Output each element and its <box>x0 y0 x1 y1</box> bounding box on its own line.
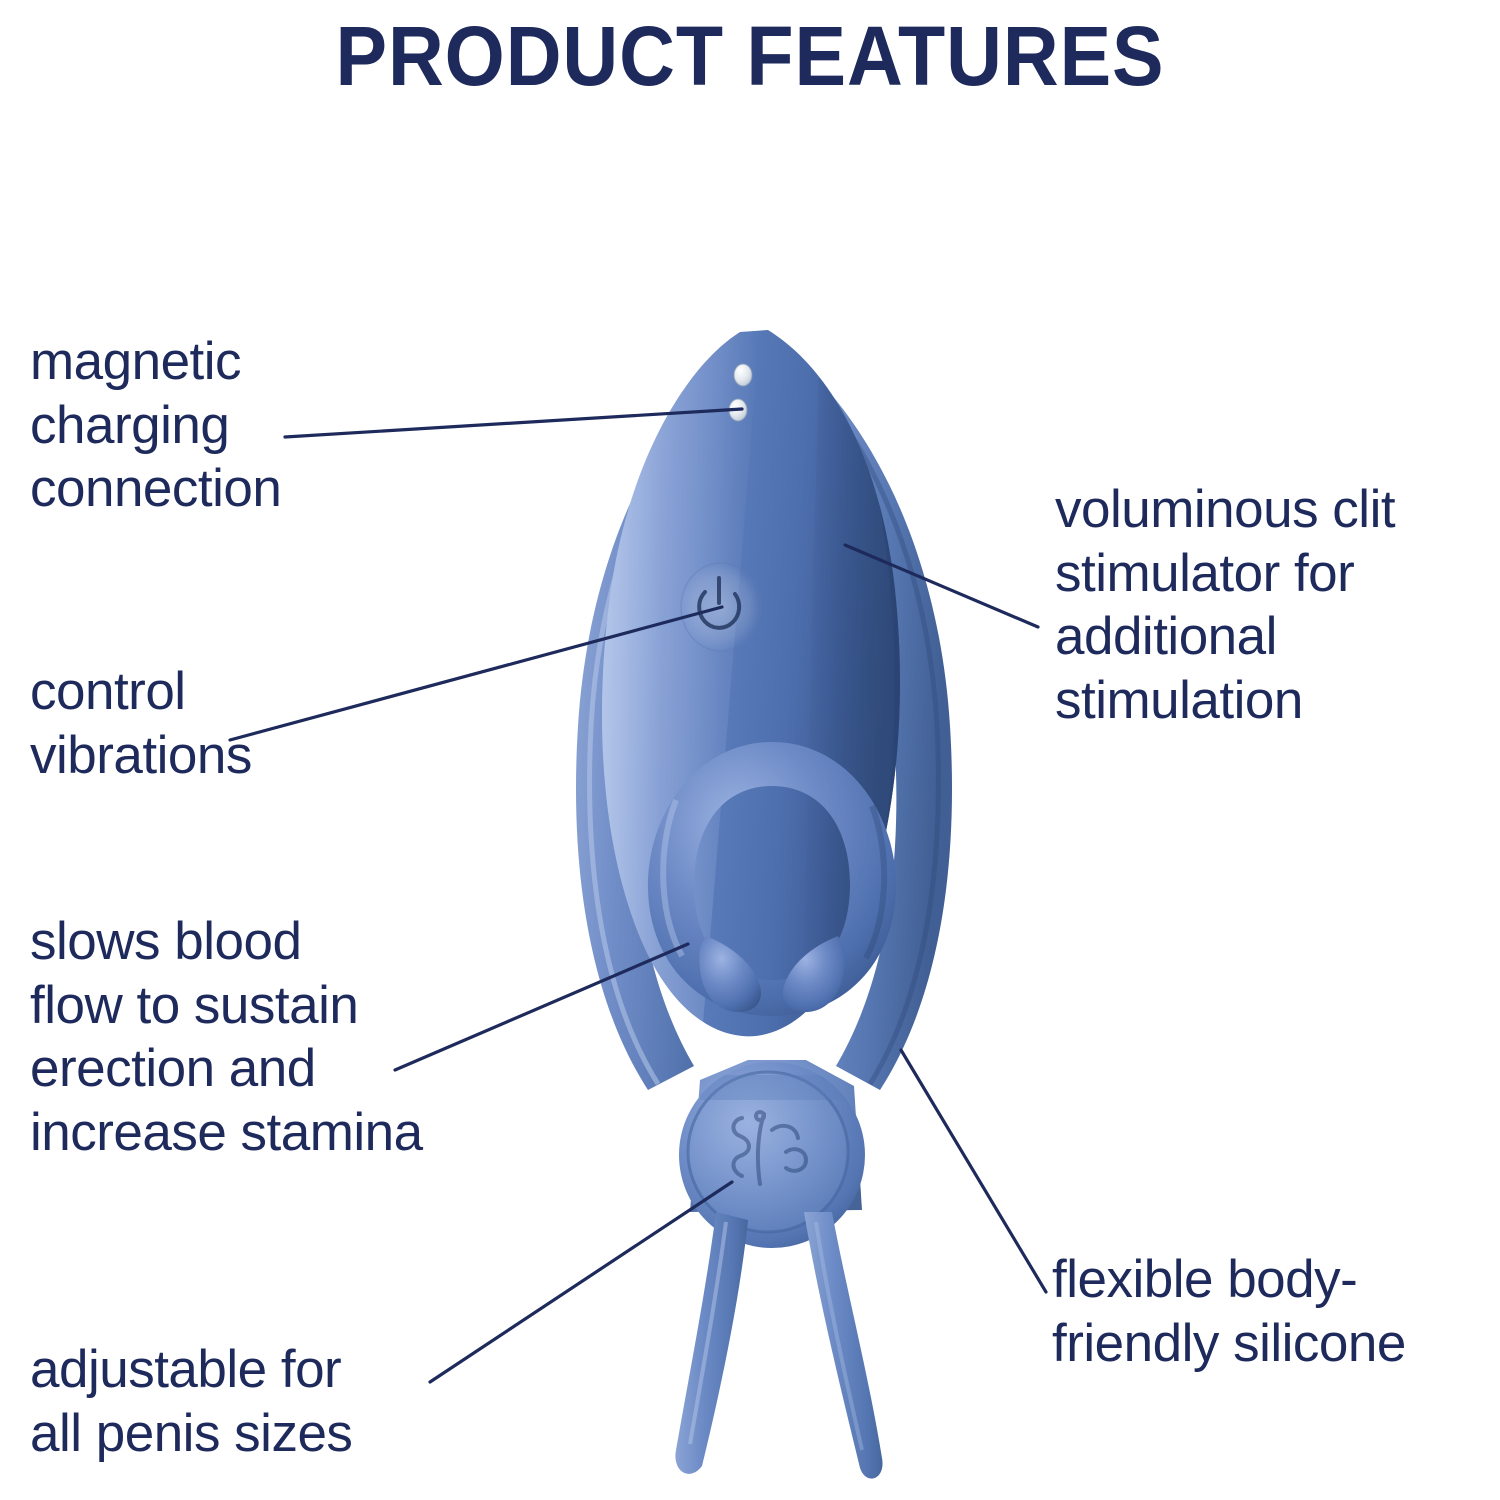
power-button <box>681 563 761 651</box>
adjuster-bead <box>679 1060 865 1248</box>
strap-tails <box>675 1212 882 1479</box>
feature-label-control-vibrations: control vibrations <box>30 660 252 787</box>
feature-label-flexible-body-friendly-silicone: flexible body- friendly silicone <box>1052 1248 1406 1375</box>
strap-tail-left <box>675 1212 748 1474</box>
strap-tail-right <box>804 1212 883 1479</box>
feature-label-voluminous-clit-stimulator: voluminous clit stimulator for additiona… <box>1055 478 1395 732</box>
product-features-infographic: PRODUCT FEATURES <box>0 0 1500 1500</box>
charging-pin-lower <box>729 399 747 421</box>
feature-label-slows-blood-flow: slows blood flow to sustain erection and… <box>30 910 423 1164</box>
feature-label-magnetic-charging-connection: magnetic charging connection <box>30 330 281 521</box>
charging-pin-upper <box>734 364 752 386</box>
feature-label-adjustable-for-all-sizes: adjustable for all penis sizes <box>30 1338 352 1465</box>
